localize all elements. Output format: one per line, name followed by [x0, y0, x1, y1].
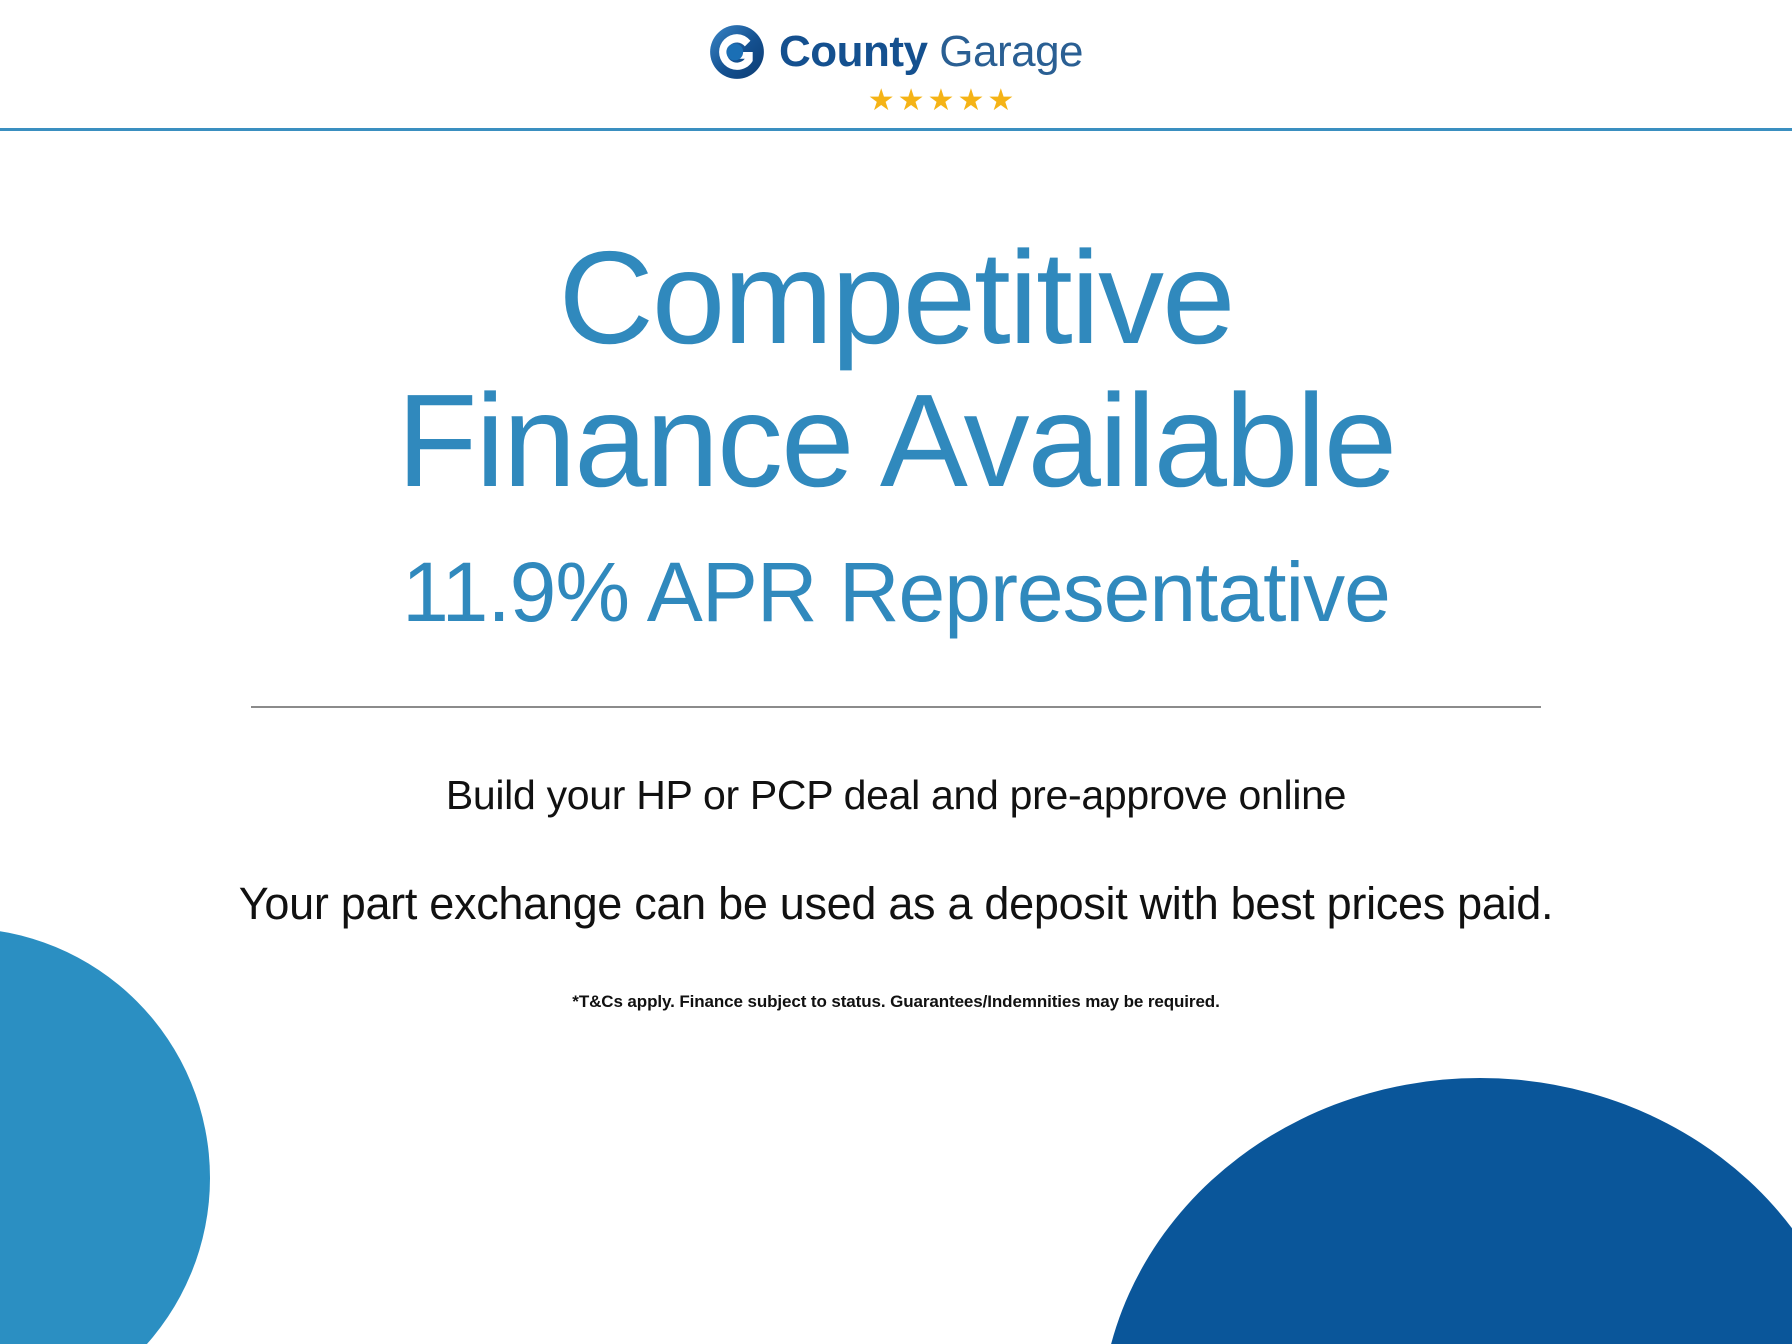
star-icon-4: ★ [957, 86, 984, 116]
star-icon-5: ★ [987, 86, 1014, 116]
star-icon-2: ★ [898, 86, 925, 116]
decorative-circle-right [1100, 1078, 1792, 1344]
headline-line-2: Finance Available [0, 370, 1792, 513]
star-icon-3: ★ [928, 86, 955, 116]
body-copy: Build your HP or PCP deal and pre-approv… [0, 770, 1792, 932]
apr-subheadline: 11.9% APR Representative [0, 546, 1792, 638]
star-icon-1: ★ [868, 86, 895, 116]
brand-name-bold: County [779, 27, 928, 76]
body-line-2: Your part exchange can be used as a depo… [0, 876, 1792, 932]
headline-line-1: Competitive [0, 227, 1792, 370]
brand-lockup[interactable]: County Garage ★ ★ ★ ★ ★ [709, 24, 1083, 116]
brand-wordmark: County Garage [779, 30, 1083, 74]
section-divider [251, 706, 1541, 708]
page-headline: Competitive Finance Available [0, 227, 1792, 512]
brand-name-light: Garage [939, 27, 1083, 76]
brand-row: County Garage [709, 24, 1083, 80]
page-header: County Garage ★ ★ ★ ★ ★ [0, 0, 1792, 128]
main-content: Competitive Finance Available 11.9% APR … [0, 131, 1792, 1012]
body-line-1: Build your HP or PCP deal and pre-approv… [0, 770, 1792, 821]
county-garage-logo-icon [709, 24, 765, 80]
rating-stars: ★ ★ ★ ★ ★ [868, 86, 1015, 116]
fineprint-disclaimer: *T&Cs apply. Finance subject to status. … [0, 992, 1792, 1012]
